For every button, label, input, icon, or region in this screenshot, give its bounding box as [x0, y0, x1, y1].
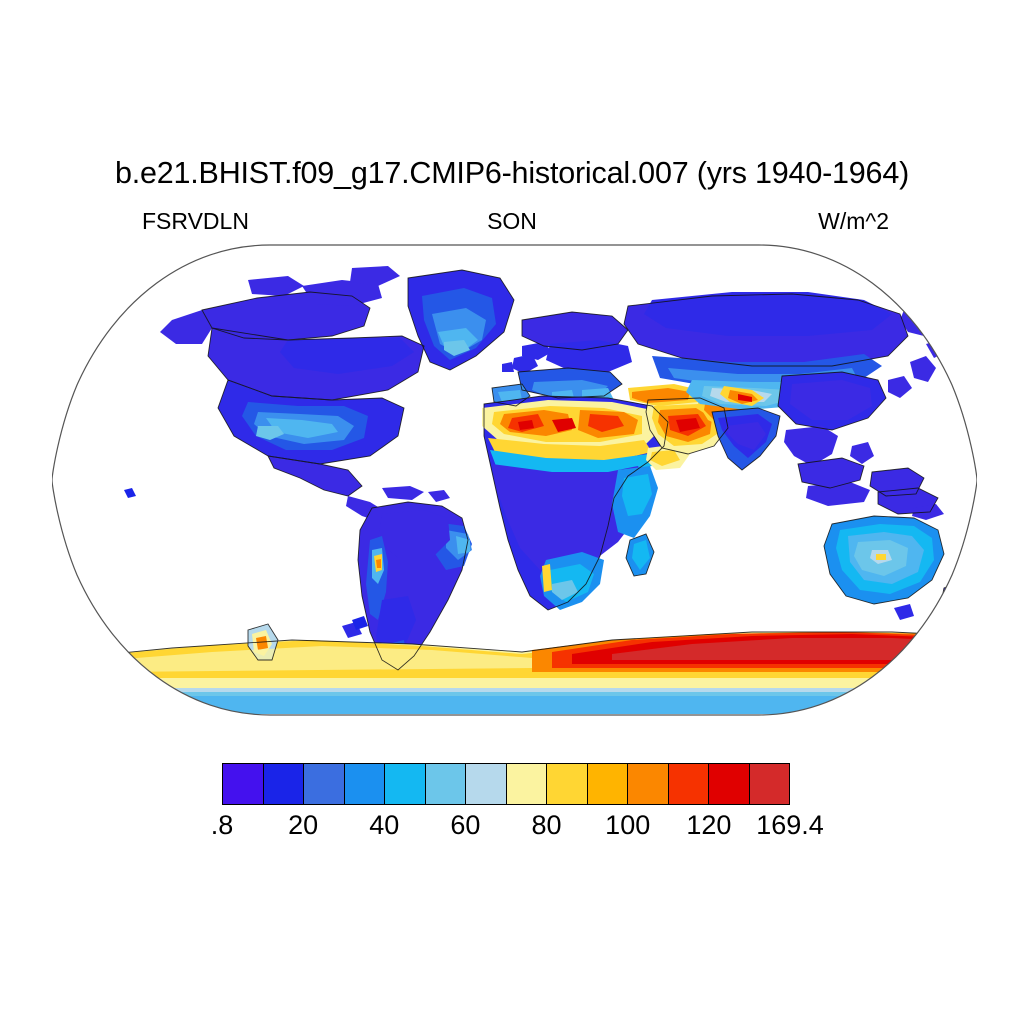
colorbar-tick-label: 100: [605, 810, 650, 841]
subtitle-row: FSRVDLN SON W/m^2: [0, 208, 1024, 238]
colorbar-tick-label: 60: [450, 810, 480, 841]
colorbar: [222, 763, 790, 805]
map-data-layer: [52, 240, 977, 720]
colorbar-ticks: .820406080100120169.4: [0, 810, 1024, 850]
colorbar-segment: [223, 764, 264, 804]
colorbar-segment: [345, 764, 386, 804]
colorbar-tick-label: 169.4: [756, 810, 824, 841]
colorbar-segment: [304, 764, 345, 804]
colorbar-tick-label: 20: [288, 810, 318, 841]
units-label: W/m^2: [818, 208, 889, 235]
colorbar-tick-label: .8: [211, 810, 234, 841]
climate-map-figure: b.e21.BHIST.f09_g17.CMIP6-historical.007…: [0, 0, 1024, 1024]
colorbar-segment: [628, 764, 669, 804]
colorbar-segment: [709, 764, 750, 804]
colorbar-segment: [264, 764, 305, 804]
colorbar-segment: [385, 764, 426, 804]
colorbar-tick-label: 80: [532, 810, 562, 841]
colorbar-segment: [547, 764, 588, 804]
colorbar-segment: [426, 764, 467, 804]
colorbar-tick-label: 120: [686, 810, 731, 841]
colorbar-segment: [466, 764, 507, 804]
colorbar-segment: [588, 764, 629, 804]
colorbar-segment: [669, 764, 710, 804]
world-map: [52, 240, 977, 720]
colorbar-segment: [507, 764, 548, 804]
colorbar-tick-label: 40: [369, 810, 399, 841]
page-title: b.e21.BHIST.f09_g17.CMIP6-historical.007…: [0, 156, 1024, 191]
colorbar-segment: [750, 764, 790, 804]
